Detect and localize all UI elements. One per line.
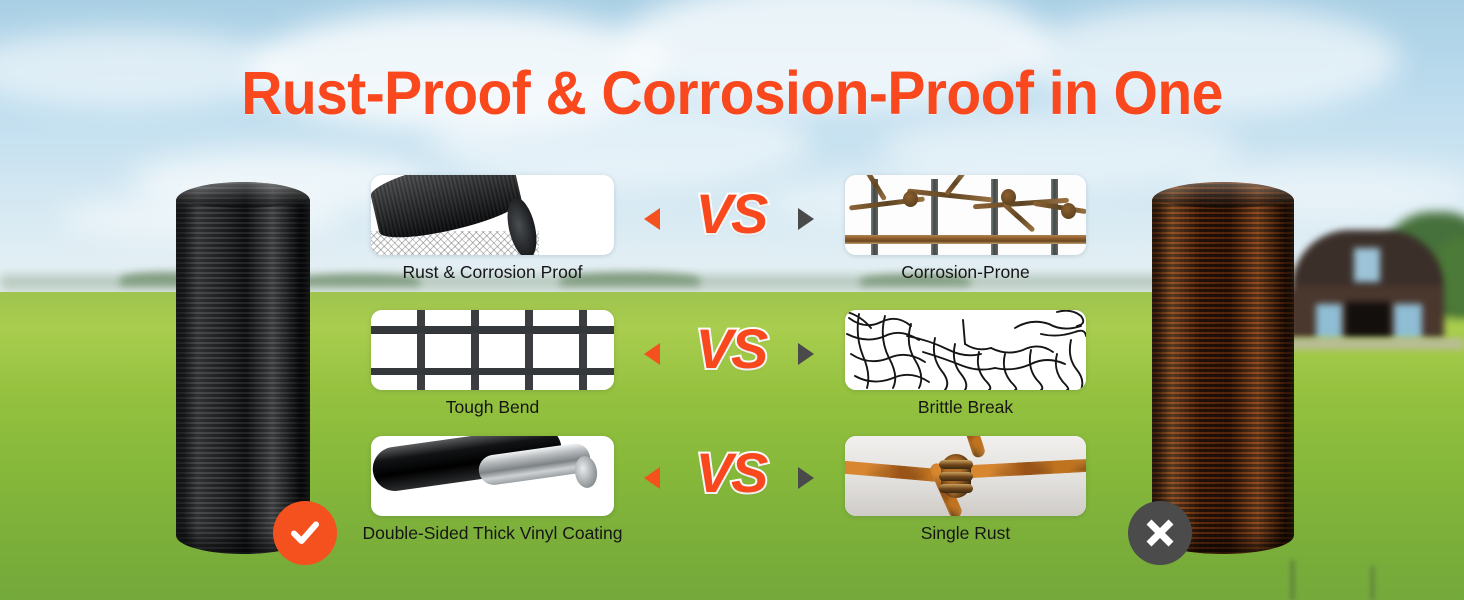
comparison-card-good[interactable] bbox=[371, 436, 614, 516]
comparison-row: Tough Bend VS bbox=[0, 297, 1464, 407]
comparison-row: Double-Sided Thick Vinyl Coating VS Sing… bbox=[0, 423, 1464, 533]
triangle-right-icon bbox=[798, 467, 814, 489]
image-rusted-barbed-wire-knot bbox=[845, 436, 1086, 516]
caption-bad: Corrosion-Prone bbox=[815, 259, 1116, 285]
barb-knot bbox=[1061, 203, 1076, 219]
image-vinyl-coated-wire-cutaway-steel-core bbox=[371, 436, 614, 516]
image-black-vinyl-coated-mesh-roll bbox=[371, 175, 614, 255]
rusted-wire bbox=[961, 458, 1086, 478]
knot-ring bbox=[939, 484, 973, 493]
barb-knot bbox=[1001, 189, 1016, 205]
steel-core-end bbox=[573, 455, 599, 490]
caption-bad: Single Rust bbox=[815, 520, 1116, 546]
comparison-card-bad[interactable] bbox=[845, 436, 1086, 516]
grid-horizontal-bar bbox=[371, 368, 614, 375]
triangle-right-icon bbox=[798, 343, 814, 365]
knot-ring bbox=[939, 460, 973, 469]
comparison-card-bad[interactable] bbox=[845, 310, 1086, 390]
image-broken-chain-link-mesh bbox=[845, 310, 1086, 390]
triangle-right-icon bbox=[798, 208, 814, 230]
grid-horizontal-bar bbox=[371, 326, 614, 333]
broken-mesh-drawing bbox=[845, 310, 1086, 390]
caption-good: Double-Sided Thick Vinyl Coating bbox=[326, 520, 659, 546]
comparison-card-good[interactable] bbox=[371, 175, 614, 255]
image-black-welded-wire-grid bbox=[371, 310, 614, 390]
image-rusty-barbed-wire-fence bbox=[845, 175, 1086, 255]
knot-ring bbox=[939, 472, 973, 481]
vs-cluster: VS bbox=[636, 172, 826, 258]
comparison-card-good[interactable] bbox=[371, 310, 614, 390]
comparison-row: Rust & Corrosion Proof VS bbox=[0, 175, 1464, 285]
barb-knot bbox=[903, 191, 918, 207]
vs-cluster: VS bbox=[636, 307, 826, 393]
comparison-card-bad[interactable] bbox=[845, 175, 1086, 255]
barbed-wire-spur bbox=[1002, 202, 1035, 232]
comparison-list: Rust & Corrosion Proof VS bbox=[0, 0, 1464, 600]
vs-cluster: VS bbox=[636, 431, 826, 517]
caption-good: Tough Bend bbox=[341, 394, 644, 420]
caption-bad: Brittle Break bbox=[815, 394, 1116, 420]
fence-rail bbox=[845, 235, 1086, 244]
caption-good: Rust & Corrosion Proof bbox=[341, 259, 644, 285]
